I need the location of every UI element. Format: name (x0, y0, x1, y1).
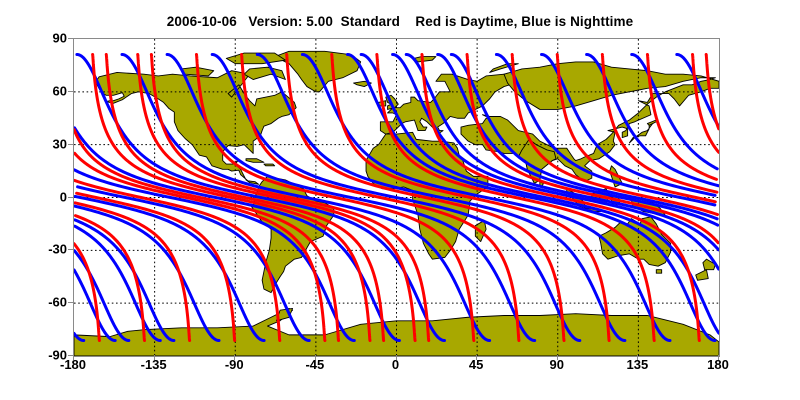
y-axis-tick-label: 0 (7, 189, 67, 204)
y-axis-tick-label: -60 (7, 295, 67, 310)
x-axis-tick-mark (234, 355, 235, 360)
x-axis-tick-mark (557, 355, 558, 360)
y-axis-tick-mark (68, 144, 73, 145)
y-axis-tick-label: 60 (7, 83, 67, 98)
y-axis-tick-label: -30 (7, 242, 67, 257)
y-axis-tick-label: 90 (7, 31, 67, 46)
y-axis-tick-mark (68, 91, 73, 92)
map-svg (74, 39, 719, 356)
x-axis-tick-mark (154, 355, 155, 360)
landmass-hispaniola (264, 164, 275, 166)
x-axis-tick-mark (718, 355, 719, 360)
y-axis-tick-mark (68, 302, 73, 303)
x-axis-tick-mark (476, 355, 477, 360)
x-axis-tick-mark (396, 355, 397, 360)
x-axis-tick-mark (637, 355, 638, 360)
plot-canvas (74, 39, 719, 356)
y-axis-tick-mark (68, 355, 73, 356)
landmass-tasmania (656, 270, 661, 274)
x-axis-tick-mark (315, 355, 316, 360)
x-axis-labels: -180-135-90-4504590135180 (0, 357, 800, 379)
y-axis-tick-mark (68, 38, 73, 39)
plot-area (73, 38, 720, 357)
y-axis-tick-mark (68, 197, 73, 198)
x-axis-tick-mark (73, 355, 74, 360)
y-axis-tick-label: 30 (7, 136, 67, 151)
y-axis-tick-mark (68, 249, 73, 250)
ground-track-map: 2006-10-06 Version: 5.00 Standard Red is… (0, 0, 800, 400)
